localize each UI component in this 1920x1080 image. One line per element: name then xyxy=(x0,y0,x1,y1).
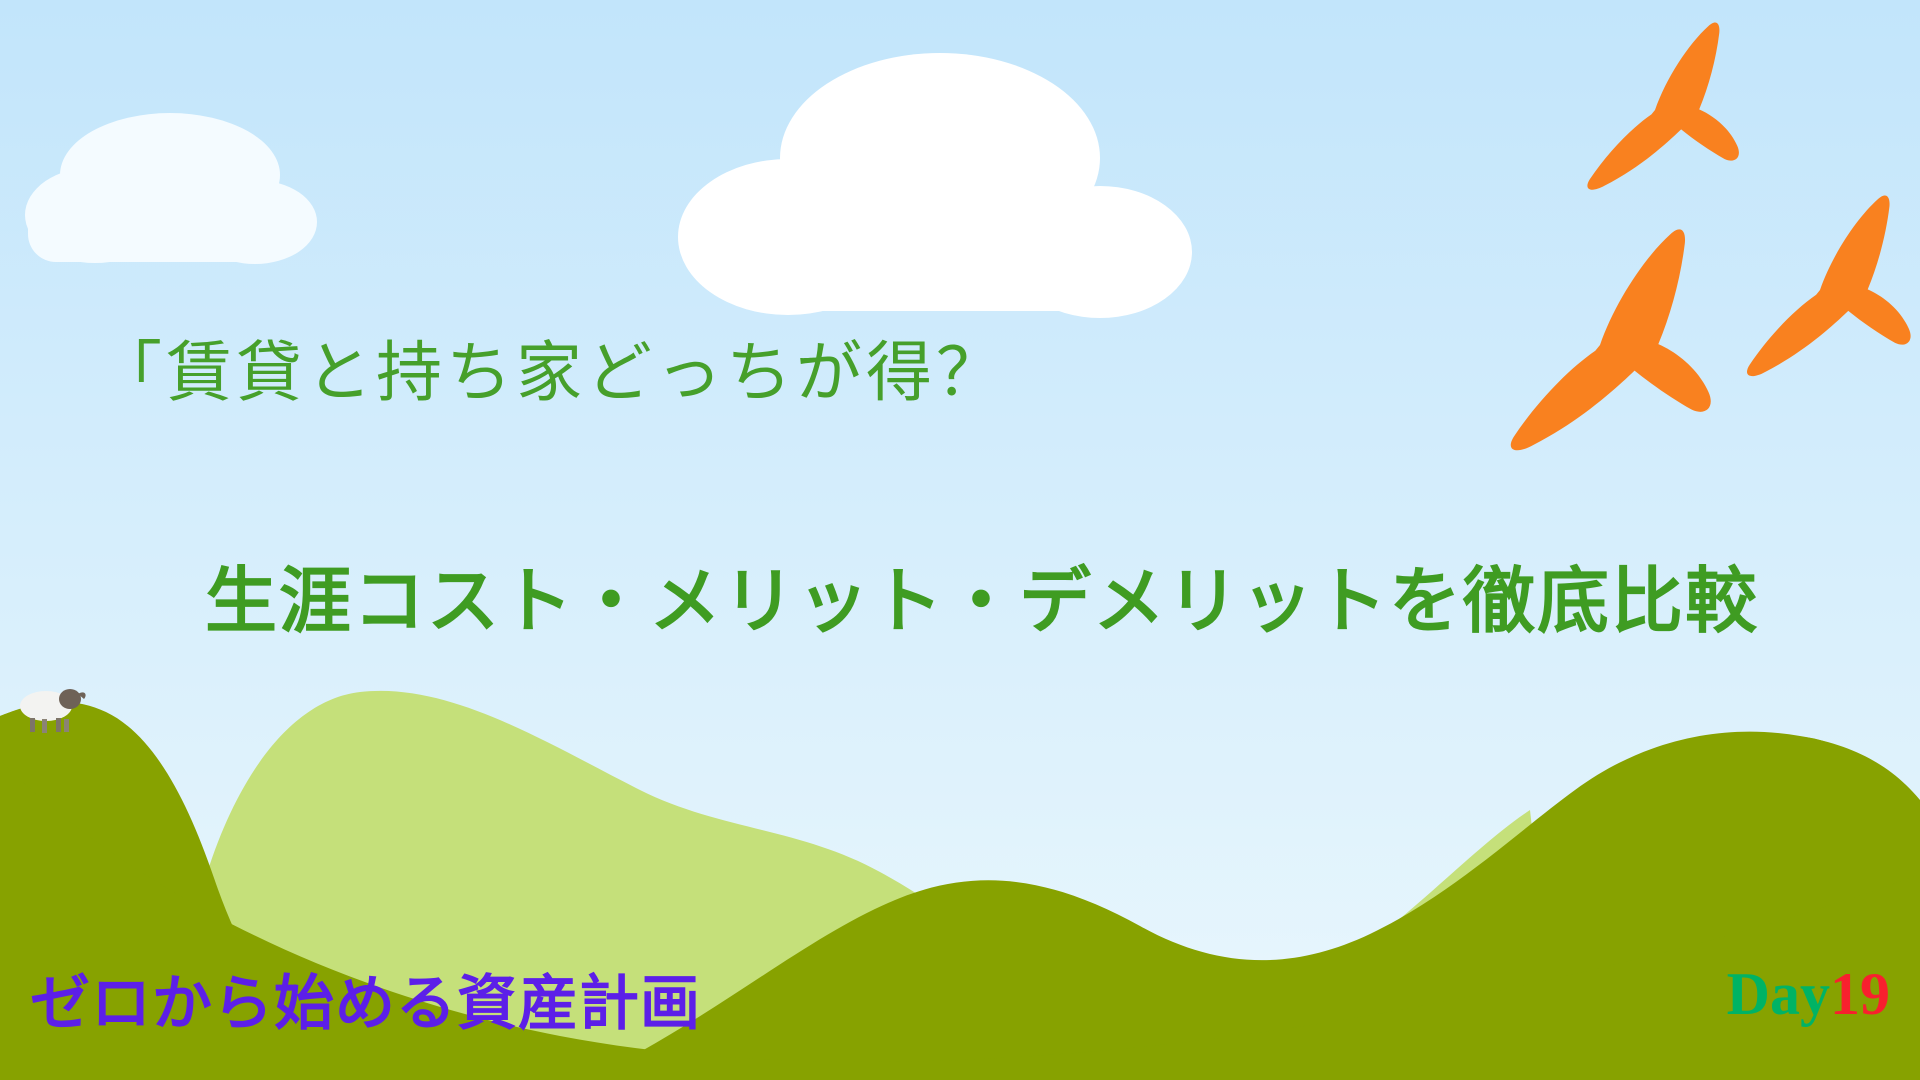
scene-illustration xyxy=(0,0,1920,1080)
banner-canvas: 「賃貸と持ち家どっちが得？ 生涯コスト・メリット・デメリットを徹底比較 ゼロから… xyxy=(0,0,1920,1080)
